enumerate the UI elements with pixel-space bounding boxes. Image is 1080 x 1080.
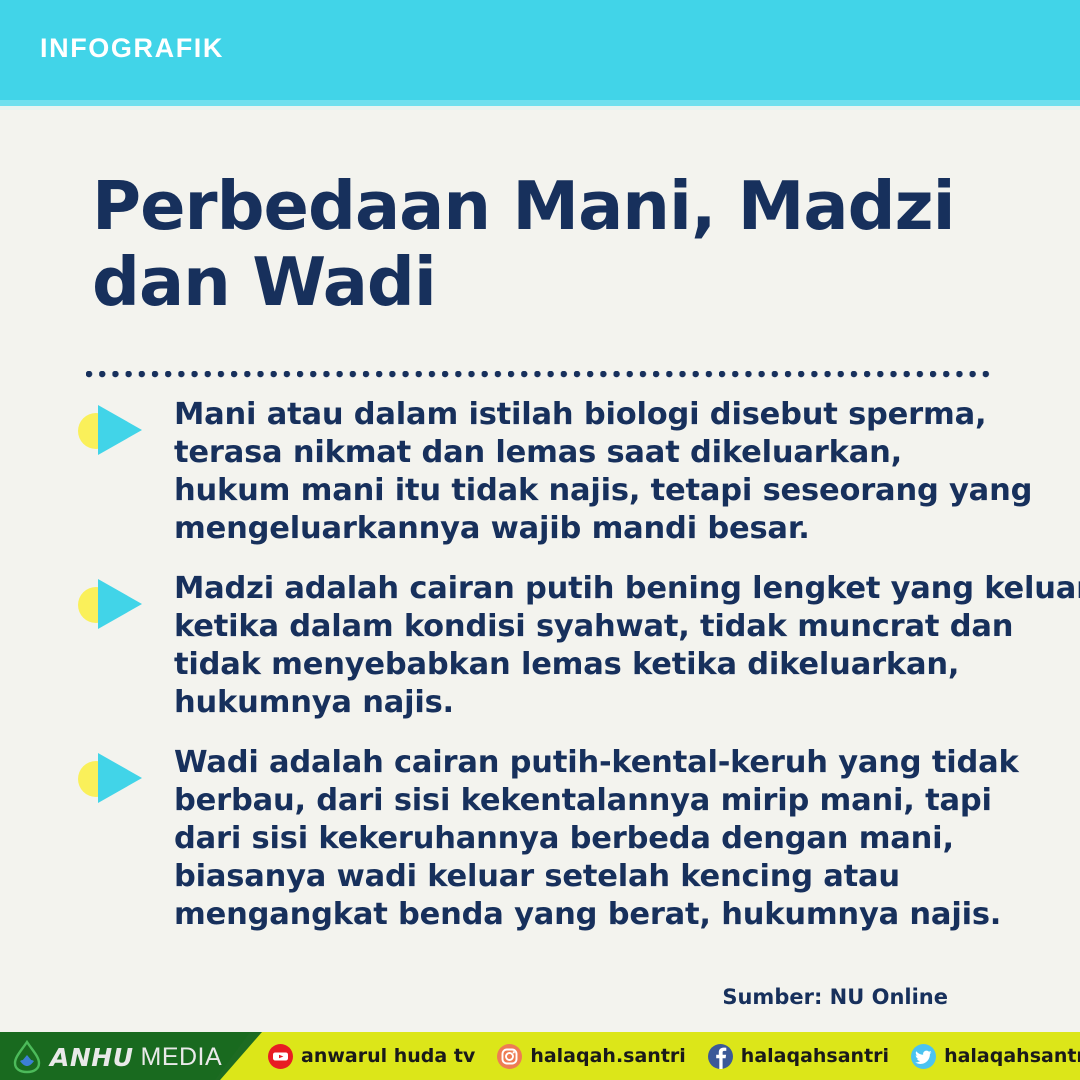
- list-item-text: Wadi adalah cairan putih-kental-keruh ya…: [174, 744, 1038, 934]
- twitter-icon: [911, 1044, 936, 1069]
- dotted-divider: [86, 371, 994, 379]
- list-item-line: hukum mani itu tidak najis, tetapi seseo…: [174, 472, 1038, 510]
- list-item-line: terasa nikmat dan lemas saat dikeluarkan…: [174, 434, 1038, 472]
- page-title: Perbedaan Mani, Madzi dan Wadi: [92, 168, 992, 320]
- list-item-line: mengangkat benda yang berat, hukumnya na…: [174, 896, 1038, 934]
- brand-name-secondary: MEDIA: [141, 1043, 223, 1072]
- list-item-line: Mani atau dalam istilah biologi disebut …: [174, 396, 1038, 434]
- social-label-instagram: halaqah.santri: [530, 1045, 685, 1067]
- list-item-line: Wadi adalah cairan putih-kental-keruh ya…: [174, 744, 1038, 782]
- arrow-bullet-icon: [78, 753, 150, 803]
- list-item-line: tidak menyebabkan lemas ketika dikeluark…: [174, 646, 1038, 684]
- facebook-icon: [708, 1044, 733, 1069]
- list-item: Mani atau dalam istilah biologi disebut …: [78, 396, 1038, 548]
- list-item-line: mengeluarkannya wajib mandi besar.: [174, 510, 1038, 548]
- instagram-icon: [497, 1044, 522, 1069]
- source-credit: Sumber: NU Online: [722, 985, 948, 1009]
- header-bar: INFOGRAFIK: [0, 0, 1080, 100]
- bullet-list: Mani atau dalam istilah biologi disebut …: [78, 396, 1038, 956]
- arrow-bullet-icon: [78, 579, 150, 629]
- brand-logo[interactable]: ANHU MEDIA: [12, 1040, 222, 1074]
- list-item-line: hukumnya najis.: [174, 684, 1038, 722]
- list-item-text: Madzi adalah cairan putih bening lengket…: [174, 570, 1038, 722]
- arrow-bullet-icon: [78, 405, 150, 455]
- header-underline-secondary: [0, 106, 1080, 110]
- page-title-line-1: Perbedaan Mani, Madzi: [92, 168, 992, 244]
- brand-name-primary: ANHU: [50, 1043, 134, 1072]
- social-label-facebook: halaqahsantri: [741, 1045, 889, 1067]
- list-item: Madzi adalah cairan putih bening lengket…: [78, 570, 1038, 722]
- social-links: anwarul huda tv halaqah.santri halaqahsa…: [268, 1032, 1080, 1080]
- social-label-youtube: anwarul huda tv: [301, 1045, 475, 1067]
- social-link-youtube[interactable]: anwarul huda tv: [268, 1044, 475, 1069]
- bullet-triangle-icon: [98, 753, 142, 803]
- list-item-line: Madzi adalah cairan putih bening lengket…: [174, 570, 1038, 608]
- list-item-line: dari sisi kekeruhannya berbeda dengan ma…: [174, 820, 1038, 858]
- social-link-twitter[interactable]: halaqahsantri: [911, 1044, 1080, 1069]
- header-label: INFOGRAFIK: [40, 33, 224, 64]
- bullet-triangle-icon: [98, 405, 142, 455]
- list-item-line: ketika dalam kondisi syahwat, tidak munc…: [174, 608, 1038, 646]
- social-link-instagram[interactable]: halaqah.santri: [497, 1044, 685, 1069]
- list-item: Wadi adalah cairan putih-kental-keruh ya…: [78, 744, 1038, 934]
- page-title-line-2: dan Wadi: [92, 244, 992, 320]
- social-label-twitter: halaqahsantri: [944, 1045, 1080, 1067]
- list-item-line: biasanya wadi keluar setelah kencing ata…: [174, 858, 1038, 896]
- youtube-icon: [268, 1044, 293, 1069]
- bullet-triangle-icon: [98, 579, 142, 629]
- list-item-text: Mani atau dalam istilah biologi disebut …: [174, 396, 1038, 548]
- social-link-facebook[interactable]: halaqahsantri: [708, 1044, 889, 1069]
- footer-bar: ANHU MEDIA anwarul huda tv halaqah.santr…: [0, 1028, 1080, 1080]
- list-item-line: berbau, dari sisi kekentalannya mirip ma…: [174, 782, 1038, 820]
- leaf-lotus-logo-icon: [12, 1040, 42, 1074]
